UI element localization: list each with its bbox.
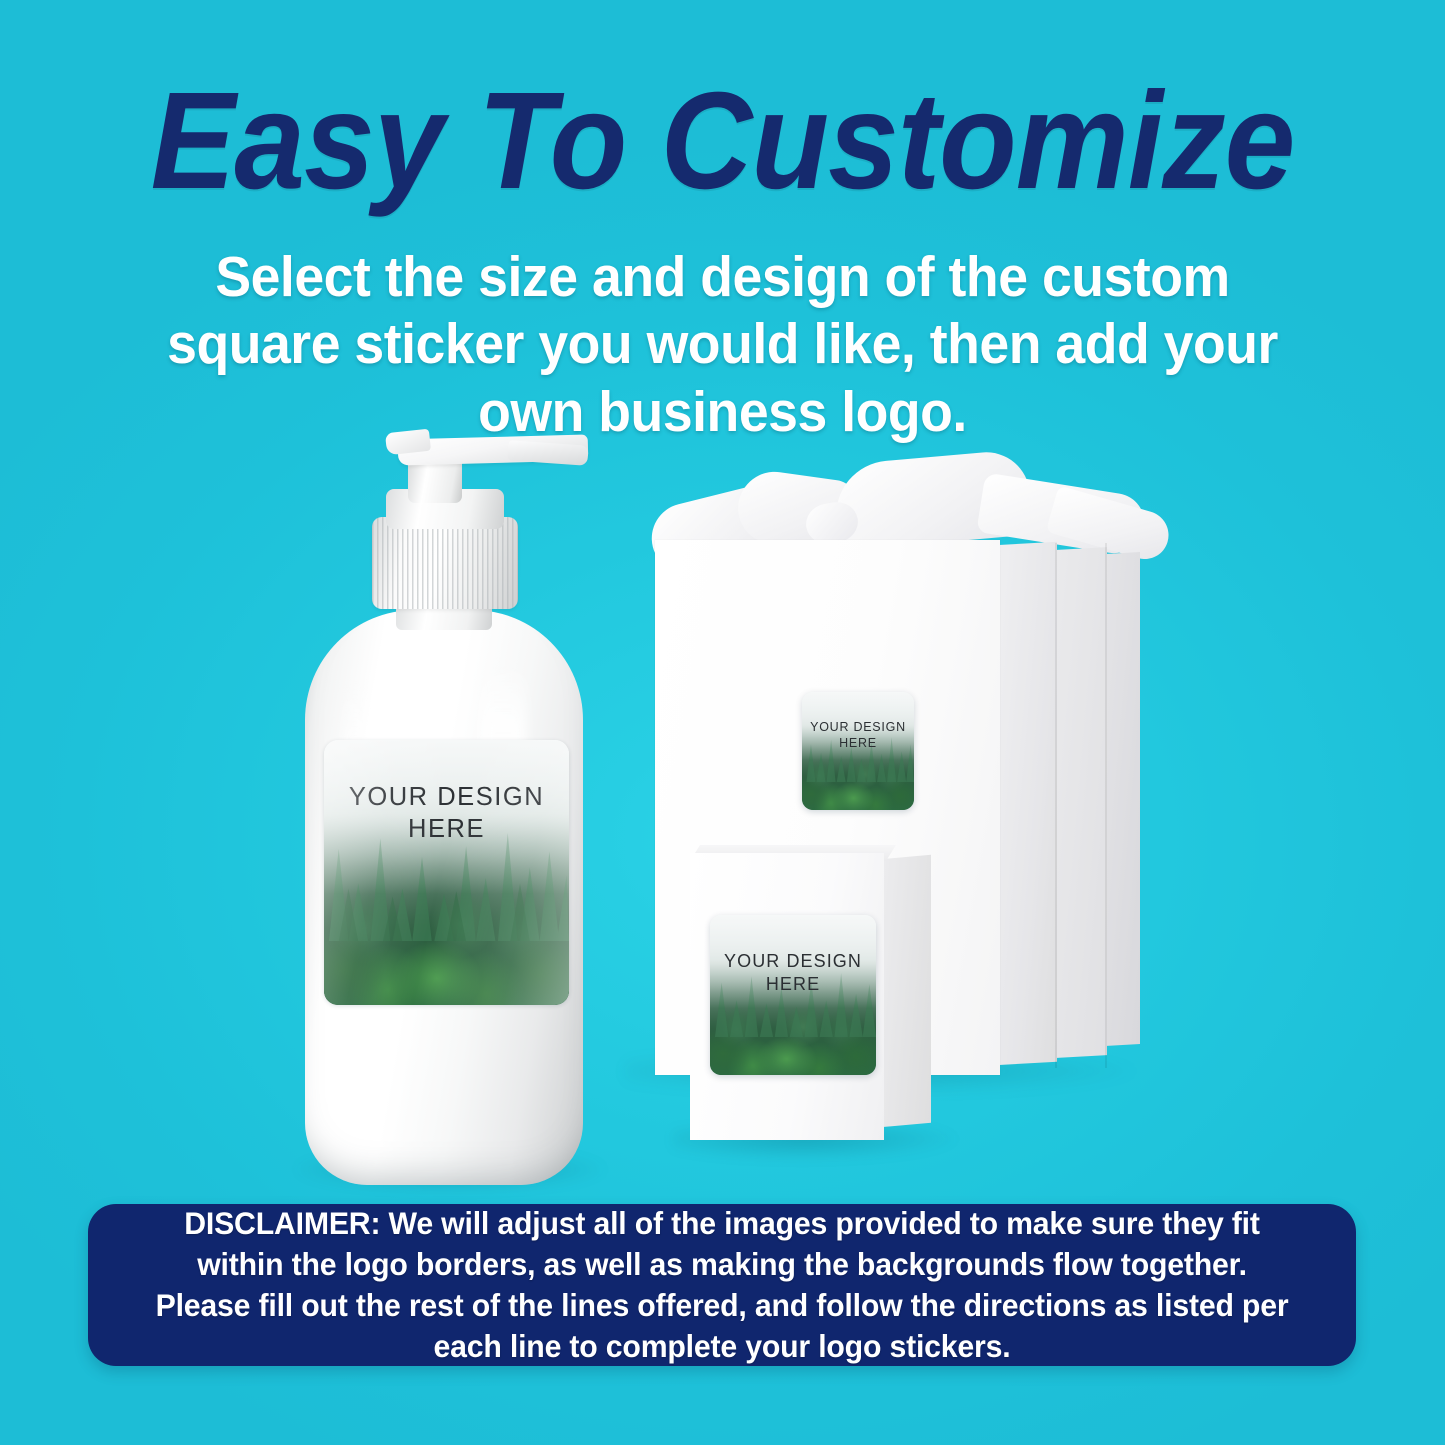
pump-bottle: YOUR DESIGN HERE	[290, 425, 600, 1185]
sticker-on-small-box[interactable]: YOUR DESIGN HERE	[710, 915, 876, 1075]
sticker-on-bottle[interactable]: YOUR DESIGN HERE	[324, 740, 569, 1005]
sticker-placeholder-text: YOUR DESIGN HERE	[324, 782, 569, 846]
sticker-text-line2: HERE	[408, 815, 485, 843]
sticker-text-line2: HERE	[766, 974, 820, 994]
sticker-placeholder-text: YOUR DESIGN HERE	[802, 720, 914, 751]
sticker-text-line2: HERE	[839, 736, 877, 750]
disclaimer-banner: DISCLAIMER: We will adjust all of the im…	[88, 1204, 1356, 1366]
gift-box-seam	[1055, 543, 1057, 1068]
disclaimer-text: DISCLAIMER: We will adjust all of the im…	[113, 1203, 1330, 1367]
gift-box-seam	[1105, 543, 1107, 1068]
gift-box-side-panel	[1055, 547, 1107, 1058]
pump-collar	[372, 517, 518, 609]
sticker-text-line1: YOUR DESIGN	[349, 783, 544, 811]
small-product-box: YOUR DESIGN HERE	[690, 845, 940, 1140]
sticker-placeholder-text: YOUR DESIGN HERE	[710, 950, 876, 995]
sticker-on-gift-box[interactable]: YOUR DESIGN HERE	[802, 692, 914, 810]
page-title: Easy To Customize	[58, 72, 1387, 210]
product-mockup-scene: YOUR DESIGN HERE	[0, 380, 1445, 1200]
pump-lip	[385, 429, 431, 455]
sticker-text-line1: YOUR DESIGN	[724, 951, 862, 971]
sticker-text-line1: YOUR DESIGN	[810, 720, 906, 734]
gift-box-side-panel	[1105, 552, 1140, 1046]
small-box-side	[883, 855, 931, 1127]
gift-box-side-panel	[999, 542, 1057, 1065]
forest-artwork	[324, 740, 569, 1005]
promo-banner: Easy To Customize Select the size and de…	[0, 0, 1445, 1445]
